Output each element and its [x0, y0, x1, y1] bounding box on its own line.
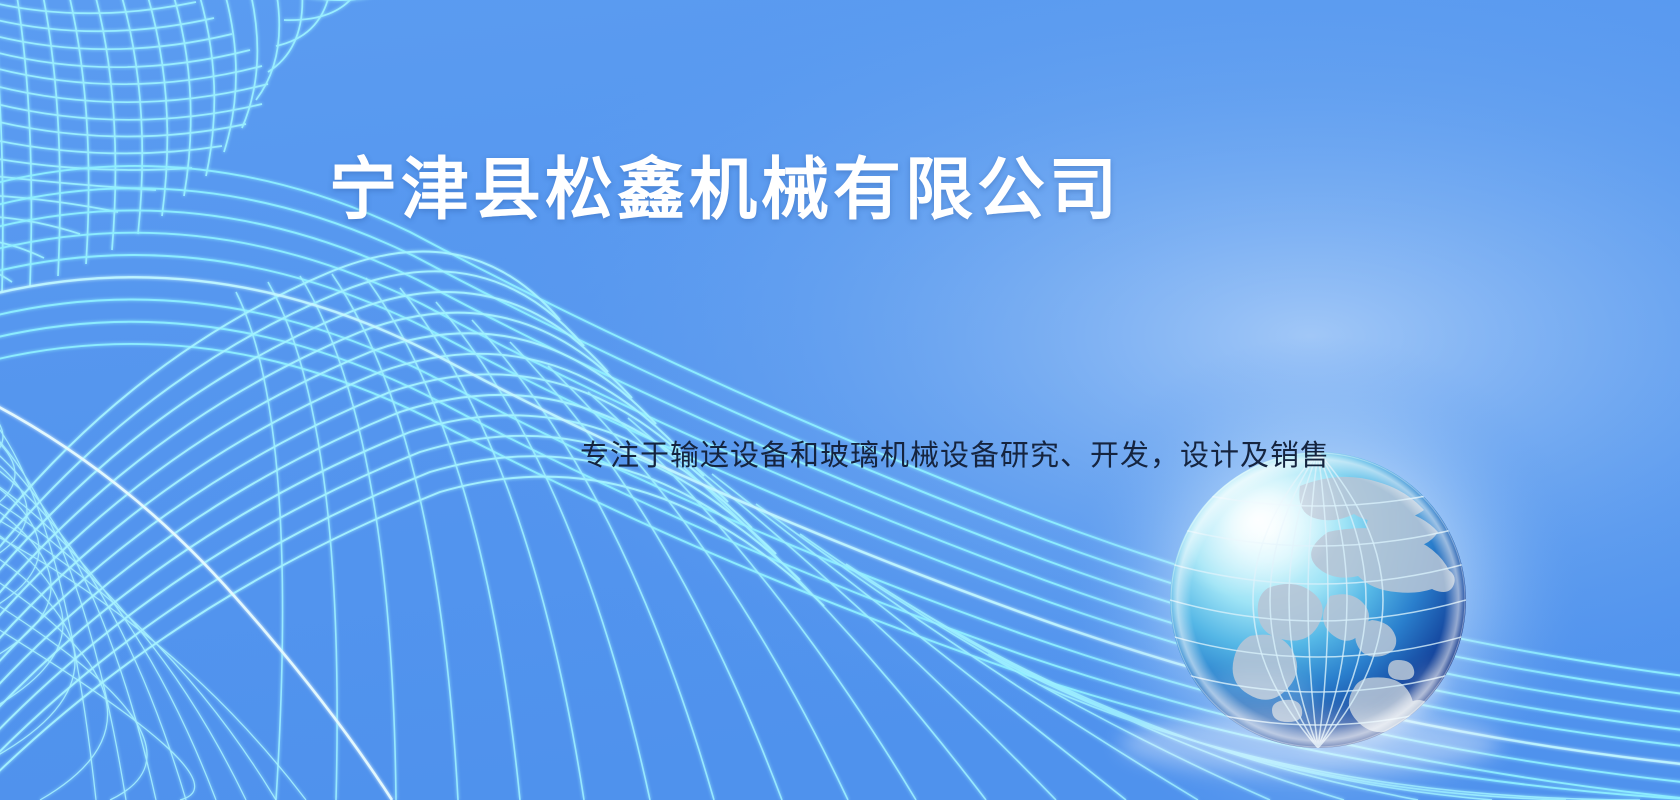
company-banner: 宁津县松鑫机械有限公司 专注于输送设备和玻璃机械设备研究、开发，设计及销售: [0, 0, 1680, 800]
banner-background-artwork: [0, 0, 1680, 800]
